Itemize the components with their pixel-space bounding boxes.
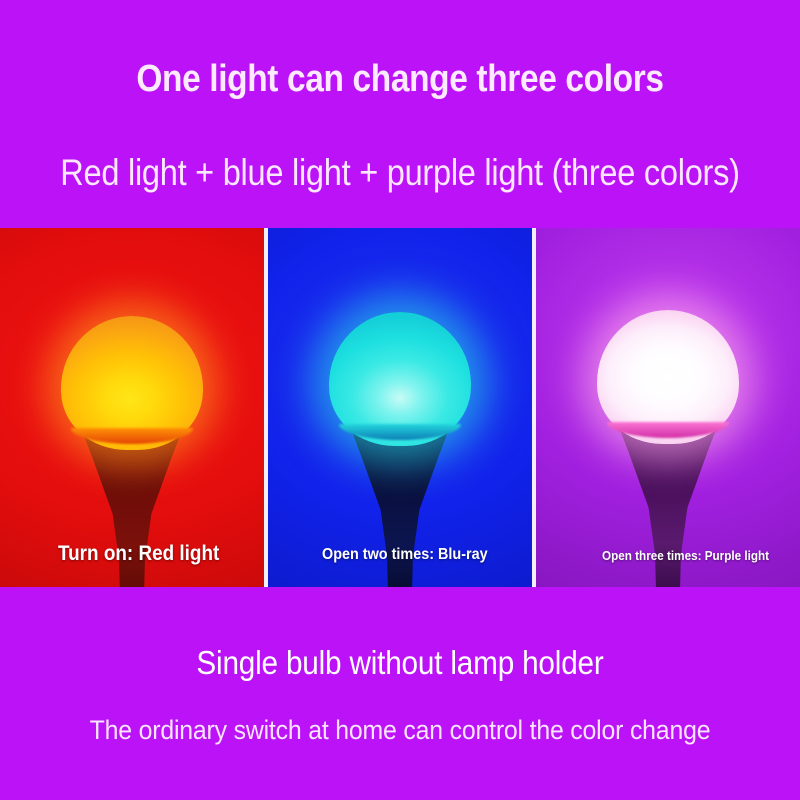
- footer-main-text: Single bulb without lamp holder: [40, 644, 760, 682]
- bulb-red-icon: [61, 316, 203, 587]
- headline: One light can change three colors: [48, 58, 752, 101]
- header-section: One light can change three colors Red li…: [0, 0, 800, 227]
- footer-sub-text: The ordinary switch at home can control …: [32, 715, 768, 746]
- subheadline: Red light + blue light + purple light (t…: [48, 152, 752, 194]
- product-banner: One light can change three colors Red li…: [0, 0, 800, 800]
- panel-purple-light: [536, 228, 800, 587]
- bulb-blue-icon: [329, 312, 471, 587]
- footer-section: Single bulb without lamp holder The ordi…: [0, 587, 800, 800]
- panel-red-light: [0, 228, 264, 587]
- bulb-purple-icon: [597, 310, 739, 585]
- panel-blue-light: [268, 228, 532, 587]
- photo-strip: [0, 228, 800, 587]
